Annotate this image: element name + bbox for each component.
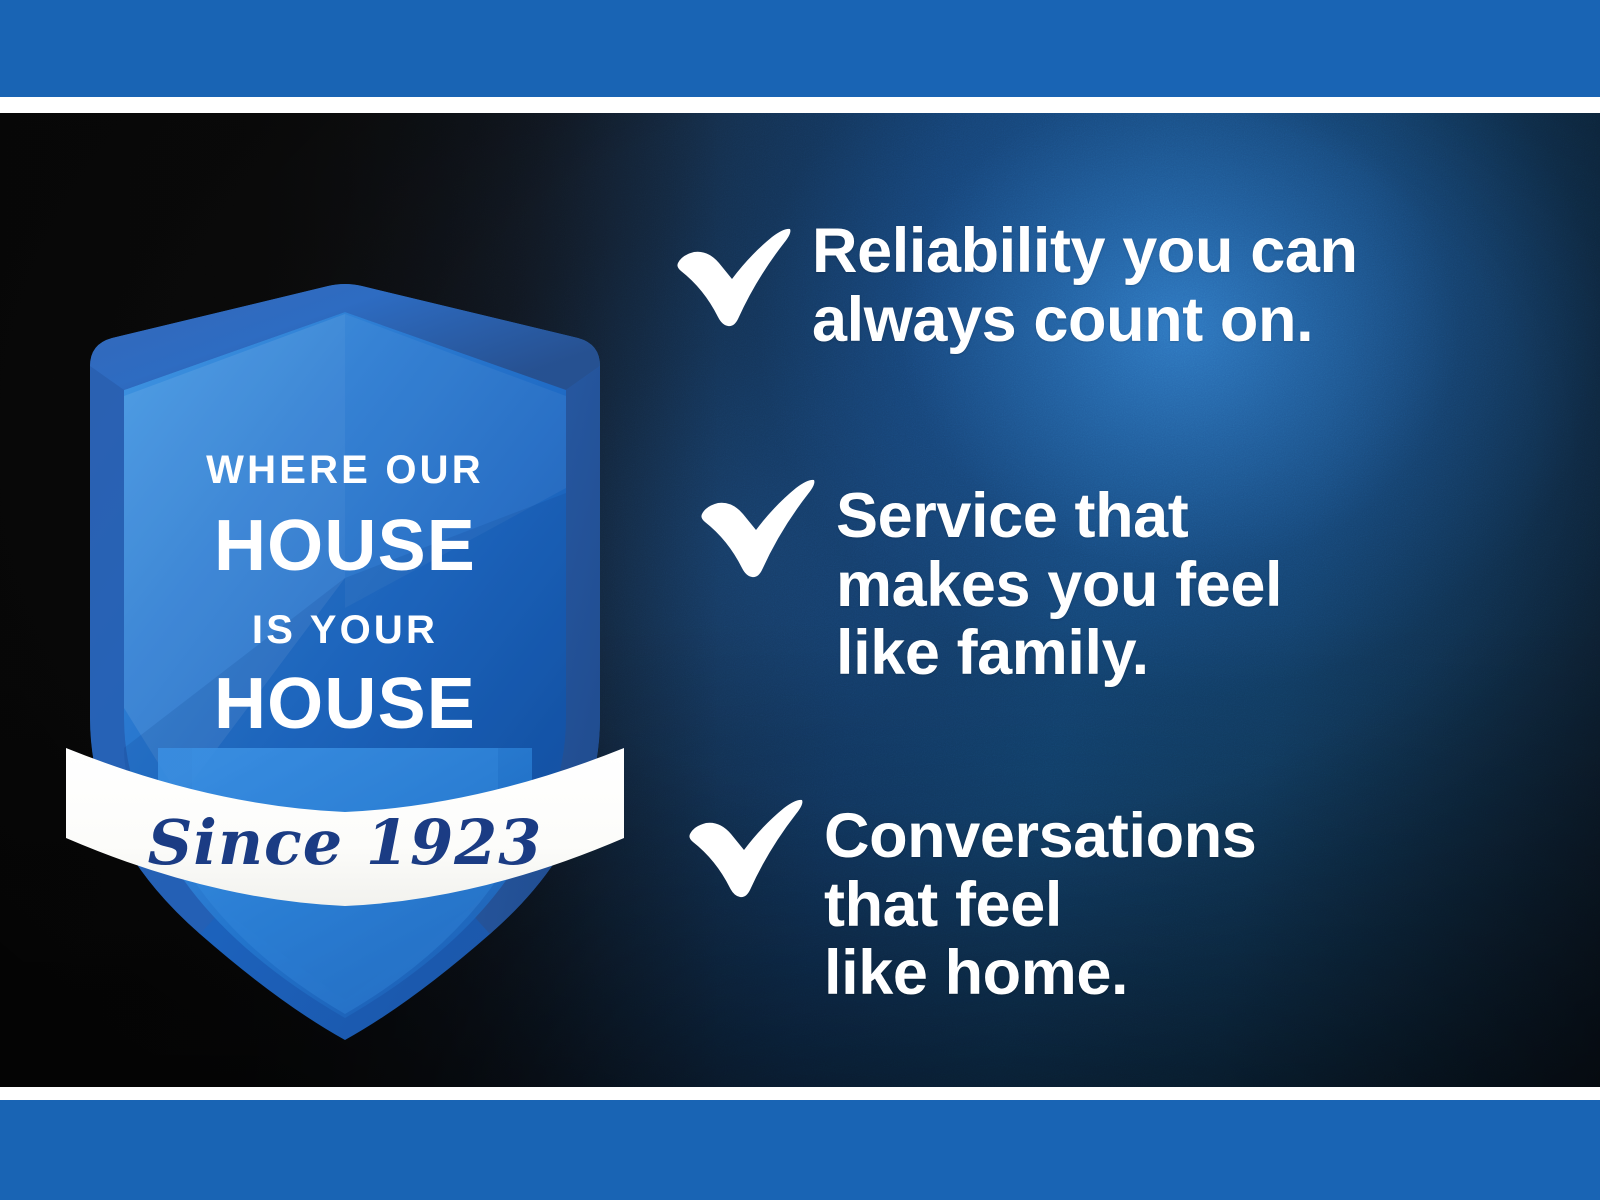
promo-graphic: WHERE OUR HOUSE IS YOUR HOUSE Since 1923 <box>0 0 1600 1200</box>
ribbon-label: Since 1923 <box>148 806 543 879</box>
benefit-item-0: Reliability you can always count on. <box>672 217 1358 354</box>
shield-line-2: IS YOUR <box>252 608 438 652</box>
shield-line-3: HOUSE <box>214 664 476 744</box>
company-shield-logo: WHERE OUR HOUSE IS YOUR HOUSE Since 1923 <box>60 278 630 1048</box>
benefit-text-0: Reliability you can always count on. <box>812 217 1358 354</box>
checkmark-icon <box>672 219 794 329</box>
shield-line-0: WHERE OUR <box>206 448 484 492</box>
main-panel: WHERE OUR HOUSE IS YOUR HOUSE Since 1923 <box>0 113 1600 1087</box>
benefit-item-1: Service that makes you feel like family. <box>696 468 1282 688</box>
benefit-text-2: Conversations that feel like home. <box>824 788 1256 1008</box>
benefits-list: Reliability you can always count on. Ser… <box>672 113 1532 1087</box>
checkmark-icon <box>696 470 818 580</box>
top-brand-bar <box>0 0 1600 97</box>
checkmark-icon <box>684 790 806 900</box>
bottom-brand-bar <box>0 1100 1600 1200</box>
benefit-text-1: Service that makes you feel like family. <box>836 468 1282 688</box>
benefit-item-2: Conversations that feel like home. <box>684 788 1256 1008</box>
shield-line-1: HOUSE <box>214 506 476 586</box>
